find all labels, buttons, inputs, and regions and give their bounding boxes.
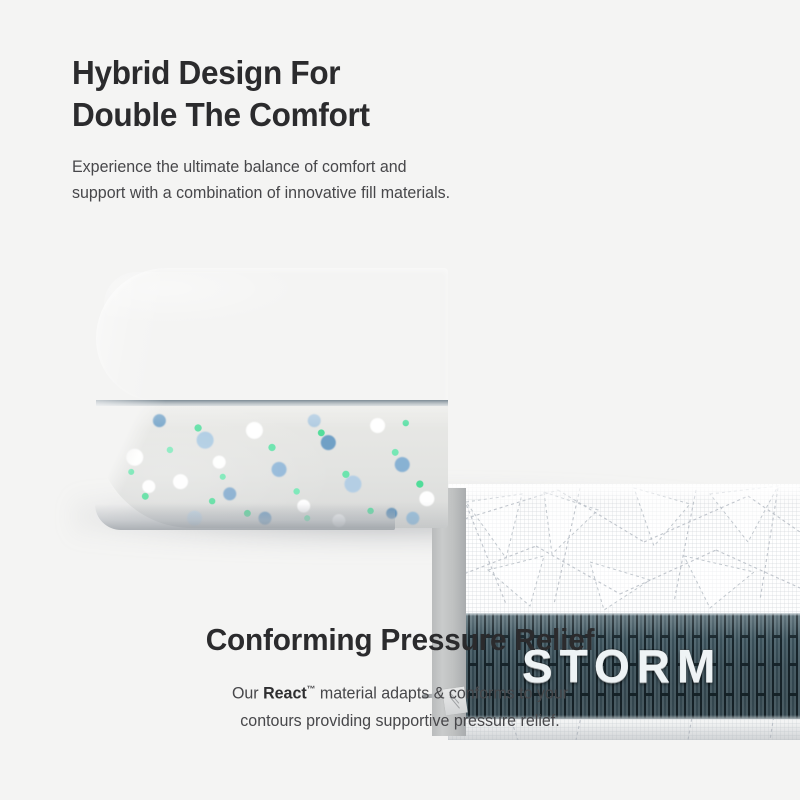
bottom-copy-block: Conforming Pressure Relief Our React™ ma…: [0, 620, 800, 735]
trademark-symbol: ™: [307, 684, 316, 694]
bottom-subcopy: Our React™ material adapts & conforms to…: [12, 676, 788, 735]
top-subcopy-line-2: support with a combination of innovative…: [72, 180, 615, 206]
foam-nose-highlight: [96, 268, 186, 402]
bottom-subcopy-prefix: Our: [232, 685, 263, 703]
page-title: Hybrid Design For Double The Comfort: [72, 52, 607, 136]
product-marketing-panel: Hybrid Design For Double The Comfort Exp…: [0, 0, 800, 800]
top-subcopy-line-1: Experience the ultimate balance of comfo…: [72, 158, 407, 176]
headline-line-2: Double The Comfort: [72, 94, 607, 136]
bottom-subcopy-line-2: contours providing supportive pressure r…: [12, 708, 788, 735]
bottom-subcopy-line-1-rest: material adapts & conforms to your: [315, 685, 568, 703]
pillow-cross-section: [96, 268, 448, 536]
fill-shading: [96, 406, 448, 528]
headline-line-1: Hybrid Design For: [72, 54, 340, 91]
react-brand-name: React: [263, 685, 307, 703]
section-title: Conforming Pressure Relief: [16, 620, 784, 660]
top-subcopy: Experience the ultimate balance of comfo…: [72, 154, 615, 206]
cover-top-highlight: [448, 484, 800, 500]
product-image: STORM: [0, 236, 800, 566]
shredded-foam-fill-layer: [96, 406, 448, 528]
top-copy-block: Hybrid Design For Double The Comfort Exp…: [72, 52, 632, 206]
blue-gel-foam-layer: [96, 268, 448, 402]
